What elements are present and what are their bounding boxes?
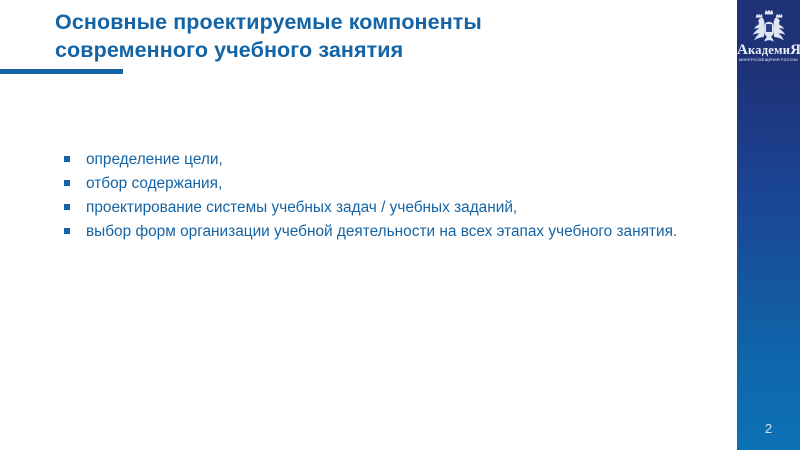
list-item-label: проектирование системы учебных задач / у… bbox=[86, 196, 710, 219]
double-headed-eagle-icon bbox=[747, 8, 791, 46]
title-underline-rule bbox=[0, 69, 123, 74]
logo-wordmark-a: А bbox=[737, 42, 748, 58]
page-number: 2 bbox=[737, 421, 800, 436]
logo-wordmark-mid: кадеми bbox=[748, 43, 790, 57]
square-bullet-icon bbox=[64, 228, 70, 234]
logo-wordmark: АкадемиЯ bbox=[737, 44, 800, 57]
page-title: Основные проектируемые компоненты соврем… bbox=[55, 8, 715, 64]
square-bullet-icon bbox=[64, 180, 70, 186]
slide-canvas: Основные проектируемые компоненты соврем… bbox=[0, 0, 800, 450]
list-item-label: выбор форм организации учебной деятельно… bbox=[86, 220, 710, 243]
bullet-list: определение цели, отбор содержания, прое… bbox=[60, 148, 710, 244]
square-bullet-icon bbox=[64, 156, 70, 162]
page-title-line-1: Основные проектируемые компоненты bbox=[55, 8, 715, 36]
list-item-label: определение цели, bbox=[86, 148, 710, 171]
list-item-label: отбор содержания, bbox=[86, 172, 710, 195]
list-item: определение цели, bbox=[60, 148, 710, 171]
logo-subtitle: МИНПРОСВЕЩЕНИЯ РОССИИ bbox=[737, 58, 800, 63]
list-item: выбор форм организации учебной деятельно… bbox=[60, 220, 710, 243]
list-item: проектирование системы учебных задач / у… bbox=[60, 196, 710, 219]
brand-sidebar: АкадемиЯ МИНПРОСВЕЩЕНИЯ РОССИИ 2 bbox=[737, 0, 800, 450]
square-bullet-icon bbox=[64, 204, 70, 210]
page-title-line-2: современного учебного занятия bbox=[55, 36, 715, 64]
logo-wordmark-ya: Я bbox=[790, 42, 800, 58]
list-item: отбор содержания, bbox=[60, 172, 710, 195]
